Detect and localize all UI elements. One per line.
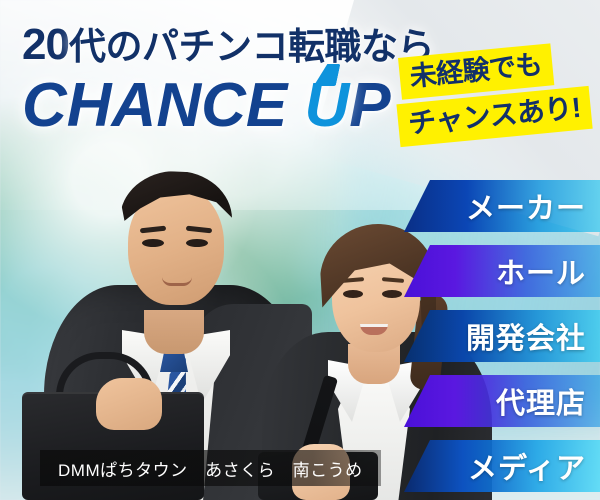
logo-letter-u: U xyxy=(304,70,349,141)
man-hand xyxy=(96,378,162,430)
category-label: メーカー xyxy=(466,185,586,227)
credit-bar: DMMぱちタウン あさくら 南こうめ xyxy=(40,450,381,486)
category-item-hall[interactable]: ホール xyxy=(404,245,600,297)
man-eye-right xyxy=(186,239,208,247)
promo-banner: 20代のパチンコ転職なら CHANCE UP 未経験でも チャンスあり! メーカ… xyxy=(0,0,600,500)
man-eye-left xyxy=(142,239,164,247)
category-label: 代理店 xyxy=(496,380,586,422)
status-badge: 未経験でも チャンスあり! xyxy=(398,40,593,147)
man-mouth xyxy=(162,277,192,286)
credit-text: DMMぱちタウン あさくら 南こうめ xyxy=(58,456,363,481)
page-title: 20代のパチンコ転職なら xyxy=(22,16,434,70)
woman-eye-left xyxy=(343,290,363,298)
headline-rest: 代のパチンコ転職なら xyxy=(69,26,434,67)
category-item-agency[interactable]: 代理店 xyxy=(404,375,600,427)
category-item-media[interactable]: メディア xyxy=(404,440,600,492)
woman-eye-right xyxy=(382,290,402,298)
brand-logo: CHANCE UP xyxy=(22,70,391,141)
headline-number: 20 xyxy=(22,20,69,69)
category-list: メーカー ホール 開発会社 代理店 メディア xyxy=(404,180,600,500)
category-label: 開発会社 xyxy=(466,315,586,357)
man-neck xyxy=(144,310,204,354)
logo-word-chance: CHANCE xyxy=(22,71,287,140)
category-item-developer[interactable]: 開発会社 xyxy=(404,310,600,362)
category-label: ホール xyxy=(496,250,586,292)
logo-letter-p: P xyxy=(349,71,390,140)
category-item-maker[interactable]: メーカー xyxy=(404,180,600,232)
category-label: メディア xyxy=(468,445,586,487)
